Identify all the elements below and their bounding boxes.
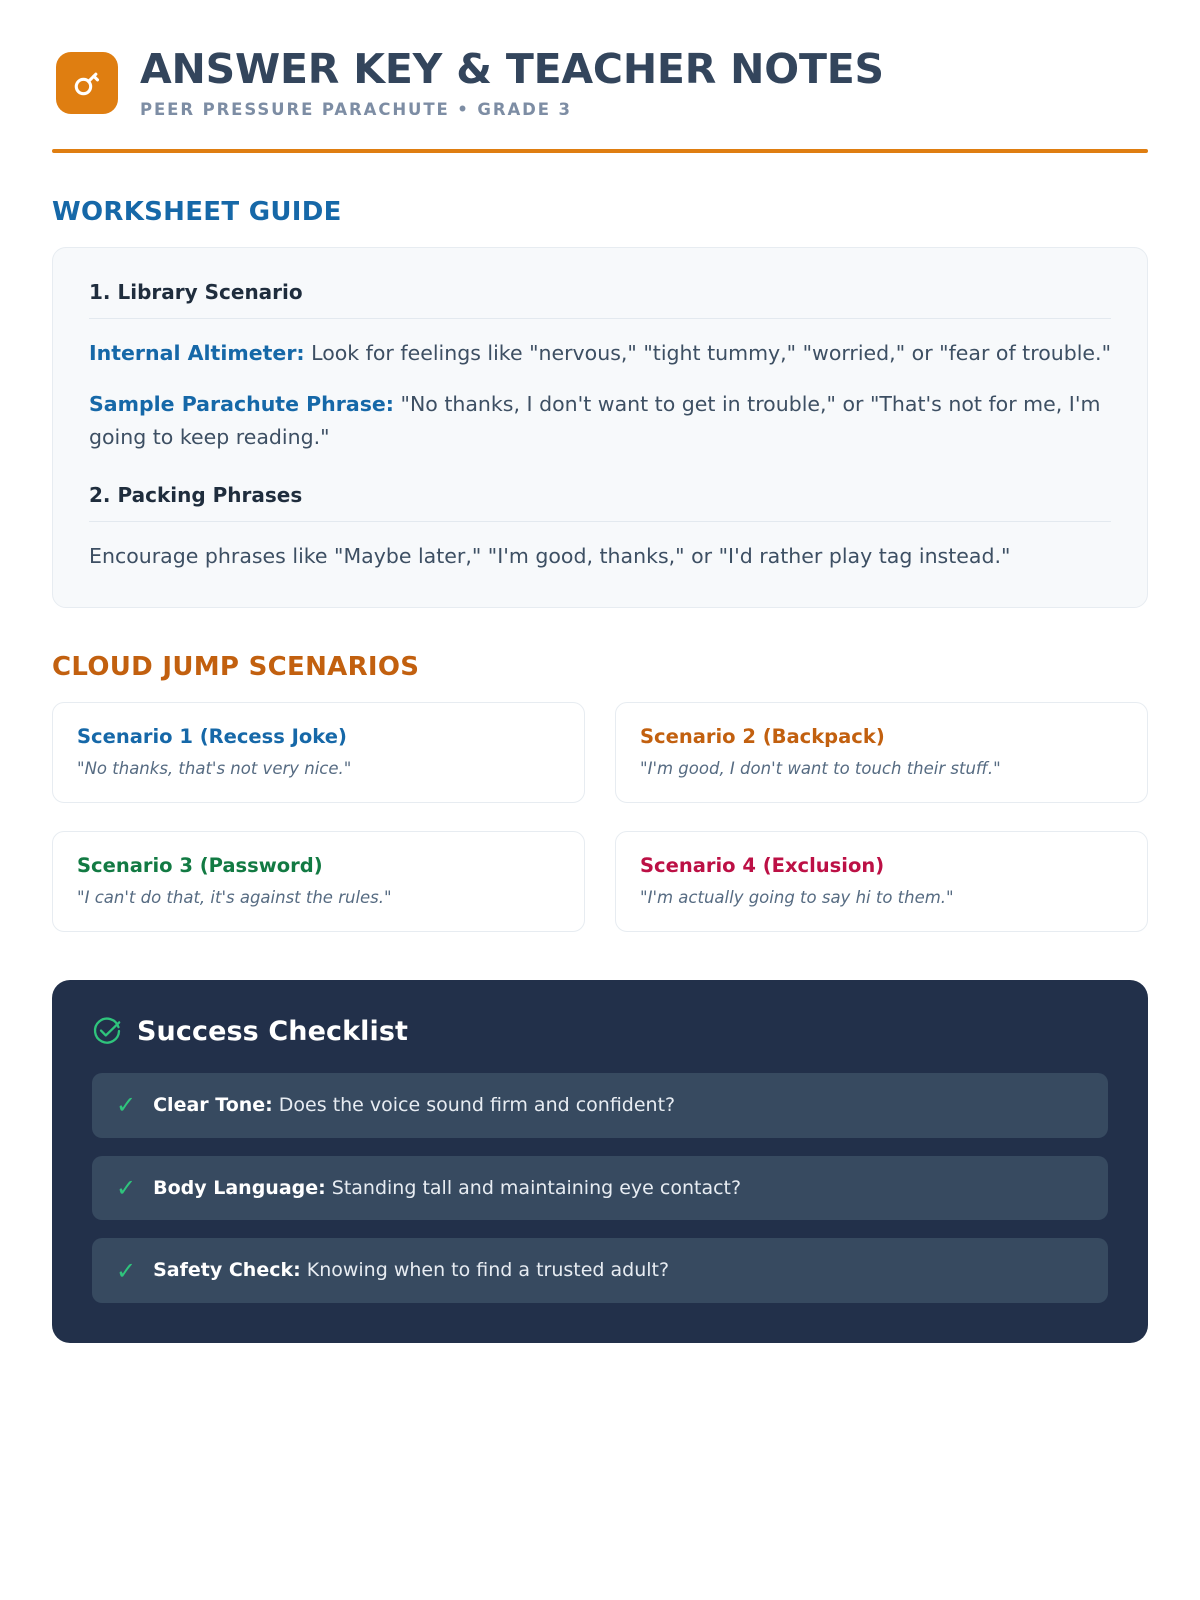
header-text-group: ANSWER KEY & TEACHER NOTES PEER PRESSURE… — [140, 46, 884, 119]
checklist-item: ✓ Safety Check: Knowing when to find a t… — [92, 1238, 1108, 1303]
scenario-card-quote: "I'm actually going to say hi to them." — [640, 888, 1123, 907]
scenario-card-quote: "No thanks, that's not very nice." — [77, 759, 560, 778]
key-icon — [69, 65, 105, 101]
guide-paragraph-text: Encourage phrases like "Maybe later," "I… — [89, 544, 1010, 568]
checklist-item-detail: Knowing when to find a trusted adult? — [301, 1259, 669, 1281]
page-subtitle: PEER PRESSURE PARACHUTE • GRADE 3 — [140, 100, 884, 119]
scenario-card-quote: "I'm good, I don't want to touch their s… — [640, 759, 1123, 778]
scenario-card-title: Scenario 1 (Recess Joke) — [77, 725, 560, 748]
scenario-card-title: Scenario 4 (Exclusion) — [640, 854, 1123, 877]
scenario-grid: Scenario 1 (Recess Joke) "No thanks, tha… — [52, 702, 1148, 932]
guide-block-title: 2. Packing Phrases — [89, 483, 1111, 522]
scenario-card-quote: "I can't do that, it's against the rules… — [77, 888, 560, 907]
checklist-header: Success Checklist — [92, 1016, 1108, 1047]
page-header: ANSWER KEY & TEACHER NOTES PEER PRESSURE… — [52, 46, 1148, 119]
checklist-item-text: Body Language: Standing tall and maintai… — [153, 1176, 741, 1201]
guide-block: 1. Library Scenario Internal Altimeter: … — [89, 280, 1111, 455]
checklist-heading: Success Checklist — [137, 1016, 408, 1047]
check-icon: ✓ — [116, 1093, 136, 1117]
checklist-item: ✓ Body Language: Standing tall and maint… — [92, 1156, 1108, 1221]
guide-paragraph-label: Sample Parachute Phrase: — [89, 392, 394, 416]
cloud-jump-heading: CLOUD JUMP SCENARIOS — [52, 652, 1148, 682]
header-divider — [52, 149, 1148, 153]
guide-block: 2. Packing Phrases Encourage phrases lik… — [89, 483, 1111, 573]
guide-paragraph: Internal Altimeter: Look for feelings li… — [89, 337, 1111, 370]
checklist-item-text: Safety Check: Knowing when to find a tru… — [153, 1258, 669, 1283]
key-icon-badge — [56, 52, 118, 114]
check-icon: ✓ — [116, 1176, 136, 1200]
guide-paragraph-label: Internal Altimeter: — [89, 341, 305, 365]
page-title: ANSWER KEY & TEACHER NOTES — [140, 48, 884, 91]
checklist-item-text: Clear Tone: Does the voice sound firm an… — [153, 1093, 675, 1118]
scenario-card: Scenario 2 (Backpack) "I'm good, I don't… — [615, 702, 1148, 803]
guide-paragraph-text: Look for feelings like "nervous," "tight… — [305, 341, 1111, 365]
checklist-item-label: Body Language: — [153, 1177, 326, 1199]
scenario-card-title: Scenario 3 (Password) — [77, 854, 560, 877]
worksheet-guide-panel: 1. Library Scenario Internal Altimeter: … — [52, 247, 1148, 608]
worksheet-guide-heading: WORKSHEET GUIDE — [52, 197, 1148, 227]
scenario-card: Scenario 3 (Password) "I can't do that, … — [52, 831, 585, 932]
guide-paragraph: Sample Parachute Phrase: "No thanks, I d… — [89, 388, 1111, 454]
scenario-card: Scenario 1 (Recess Joke) "No thanks, tha… — [52, 702, 585, 803]
scenario-card: Scenario 4 (Exclusion) "I'm actually goi… — [615, 831, 1148, 932]
success-checklist-panel: Success Checklist ✓ Clear Tone: Does the… — [52, 980, 1148, 1343]
circle-check-icon — [92, 1016, 122, 1046]
scenario-card-title: Scenario 2 (Backpack) — [640, 725, 1123, 748]
checklist-item-detail: Does the voice sound firm and confident? — [273, 1094, 675, 1116]
checklist-item-label: Safety Check: — [153, 1259, 301, 1281]
checklist-item-detail: Standing tall and maintaining eye contac… — [326, 1177, 741, 1199]
check-icon: ✓ — [116, 1259, 136, 1283]
guide-block-title: 1. Library Scenario — [89, 280, 1111, 319]
checklist-item-label: Clear Tone: — [153, 1094, 273, 1116]
guide-paragraph: Encourage phrases like "Maybe later," "I… — [89, 540, 1111, 573]
checklist-item: ✓ Clear Tone: Does the voice sound firm … — [92, 1073, 1108, 1138]
